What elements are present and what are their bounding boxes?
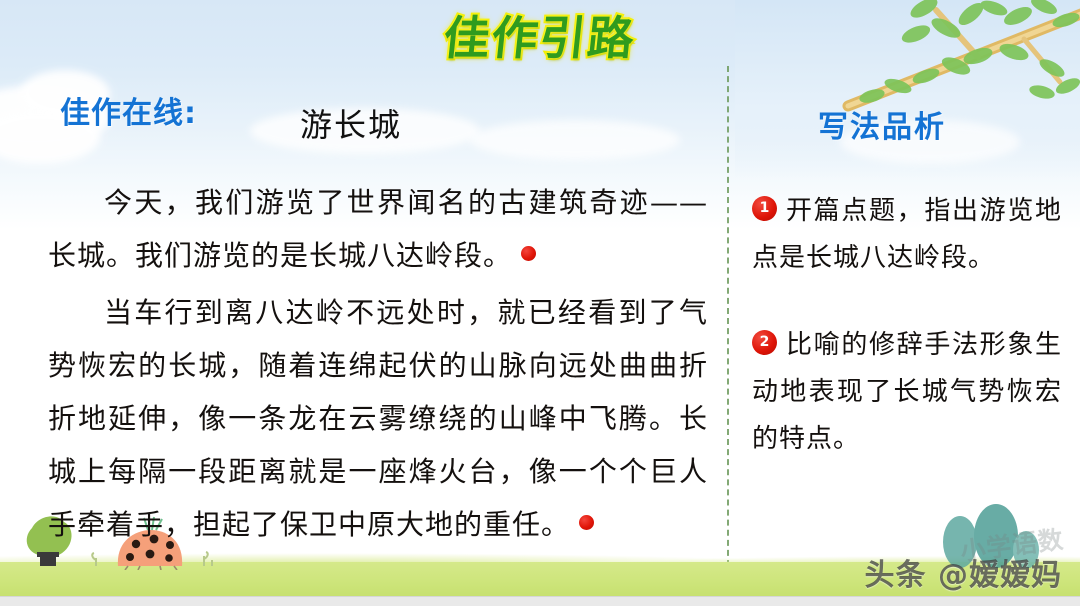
note-number-badge-2: 2 [752,330,777,355]
section-label-writing-analysis: 写法品析 [818,102,946,146]
section-label-essay-online: 佳作在线: [60,88,197,132]
analysis-note-text: 开篇点题，指出游览地点是长城八达岭段。 [752,188,1062,282]
column-divider [727,66,729,566]
essay-paragraph-text: 今天，我们游览了世界闻名的古建筑奇迹——长城。我们游览的是长城八达岭段。 [48,186,708,272]
analysis-note: 2 比喻的修辞手法形象生动地表现了长城气势恢宏的特点。 [752,322,1062,463]
cloud-icon [470,120,680,160]
slide-title: 佳作引路 [441,2,640,68]
analysis-note: 1 开篇点题，指出游览地点是长城八达岭段。 [752,188,1062,282]
essay-paragraph-text: 当车行到离八达岭不远处时，就已经看到了气势恢宏的长城，随着连绵起伏的山脉向远处曲… [48,296,708,541]
note-number-badge-1: 1 [752,196,777,221]
analysis-notes: 1 开篇点题，指出游览地点是长城八达岭段。 2 比喻的修辞手法形象生动地表现了长… [752,188,1062,503]
essay-paragraph: 今天，我们游览了世界闻名的古建筑奇迹——长城。我们游览的是长城八达岭段。 [48,176,708,282]
slide-title-container: 佳作引路 [0,2,1080,68]
essay-title: 游长城 [300,100,402,146]
essay-paragraph: 当车行到离八达岭不远处时，就已经看到了气势恢宏的长城，随着连绵起伏的山脉向远处曲… [48,286,708,551]
marker-dot-1-icon [521,246,536,261]
analysis-note-text: 比喻的修辞手法形象生动地表现了长城气势恢宏的特点。 [752,322,1062,463]
marker-dot-2-icon [579,515,594,530]
watermark-toutiao: 头条 @嫒嫒妈 [865,550,1062,594]
footer-bar [0,596,1080,606]
essay-body: 今天，我们游览了世界闻名的古建筑奇迹——长城。我们游览的是长城八达岭段。 当车行… [48,176,708,555]
slide-canvas: 佳作引路 佳作在线: 游长城 写法品析 今天，我们游览了世界闻名的古建筑奇迹——… [0,0,1080,606]
